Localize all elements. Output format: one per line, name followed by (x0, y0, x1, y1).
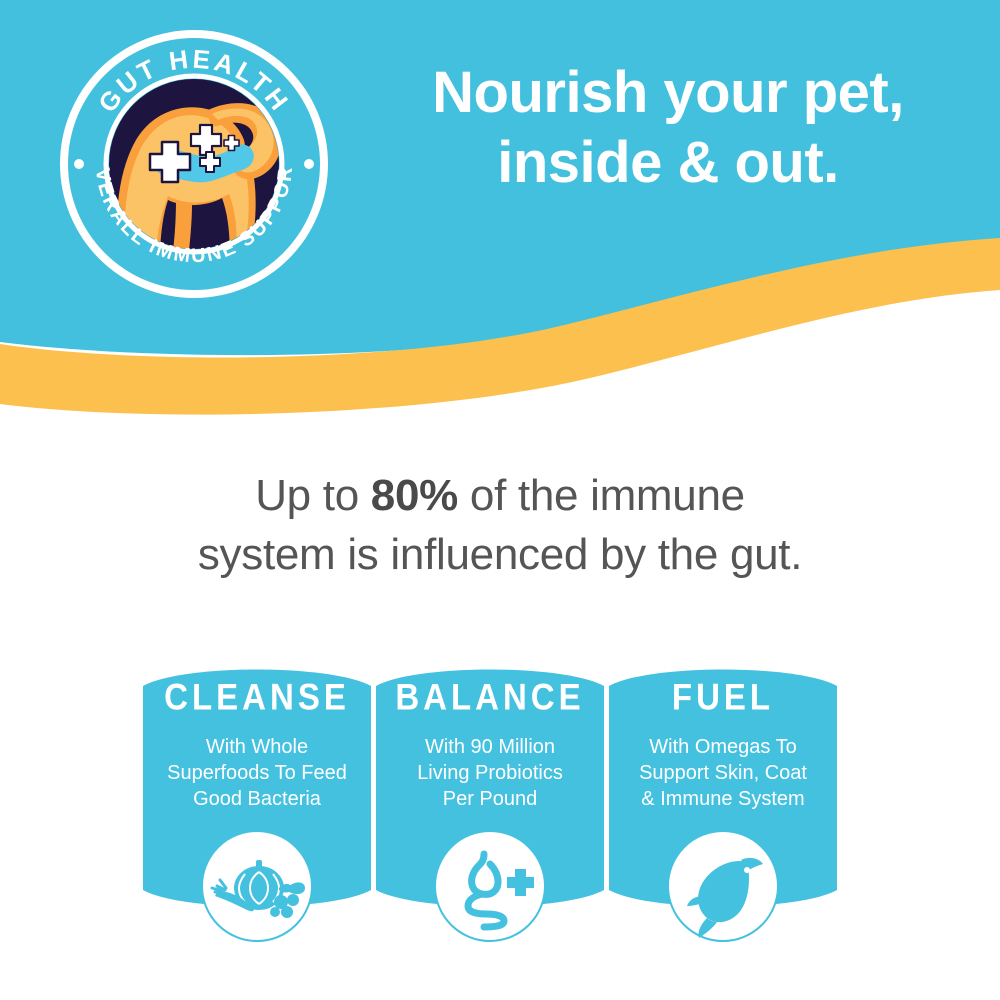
fish-icon (667, 830, 779, 942)
pumpkin-carrot-berries-icon (201, 830, 313, 942)
badge-dot-left (74, 159, 84, 169)
stat-percent: 80% (371, 471, 458, 520)
card-sub-line: With Omegas To (615, 734, 831, 760)
card-title-balance: BALANCE (376, 676, 604, 719)
card-sub-line: Superfoods To Feed (149, 760, 365, 786)
card-sub-line: With Whole (149, 734, 365, 760)
stomach-intestine-plus-icon (434, 830, 546, 942)
benefit-card-cleanse[interactable]: CLEANSE With Whole Superfoods To Feed Go… (143, 640, 371, 960)
hero-headline: Nourish your pet, inside & out. (358, 58, 978, 197)
stat-prefix: Up to (255, 471, 371, 520)
hero-section: GUT HEALTH OVERALL IMMUNE SUPPORT Nouris… (0, 0, 1000, 420)
stat-statement: Up to 80% of the immune system is influe… (100, 466, 900, 585)
stat-line-2: system is influenced by the gut. (100, 525, 900, 584)
benefit-card-balance[interactable]: BALANCE With 90 Million Living Probiotic… (376, 640, 604, 960)
card-title-cleanse: CLEANSE (143, 676, 371, 719)
card-subtitle-cleanse: With Whole Superfoods To Feed Good Bacte… (149, 734, 365, 812)
card-sub-line: Per Pound (382, 786, 598, 812)
benefit-cards: CLEANSE With Whole Superfoods To Feed Go… (0, 640, 1000, 960)
gut-health-badge-logo: GUT HEALTH OVERALL IMMUNE SUPPORT (58, 28, 330, 300)
card-sub-line: Good Bacteria (149, 786, 365, 812)
card-subtitle-fuel: With Omegas To Support Skin, Coat & Immu… (615, 734, 831, 812)
infographic-page: GUT HEALTH OVERALL IMMUNE SUPPORT Nouris… (0, 0, 1000, 1000)
card-title-fuel: FUEL (609, 676, 837, 719)
badge-dot-right (304, 159, 314, 169)
headline-line-1: Nourish your pet, (358, 58, 978, 128)
card-sub-line: & Immune System (615, 786, 831, 812)
card-sub-line: Support Skin, Coat (615, 760, 831, 786)
headline-line-2: inside & out. (358, 128, 978, 198)
card-sub-line: Living Probiotics (382, 760, 598, 786)
benefit-card-fuel[interactable]: FUEL With Omegas To Support Skin, Coat &… (609, 640, 837, 960)
stat-line-1: Up to 80% of the immune (100, 466, 900, 525)
stat-suffix: of the immune (458, 471, 745, 520)
card-subtitle-balance: With 90 Million Living Probiotics Per Po… (382, 734, 598, 812)
card-sub-line: With 90 Million (382, 734, 598, 760)
